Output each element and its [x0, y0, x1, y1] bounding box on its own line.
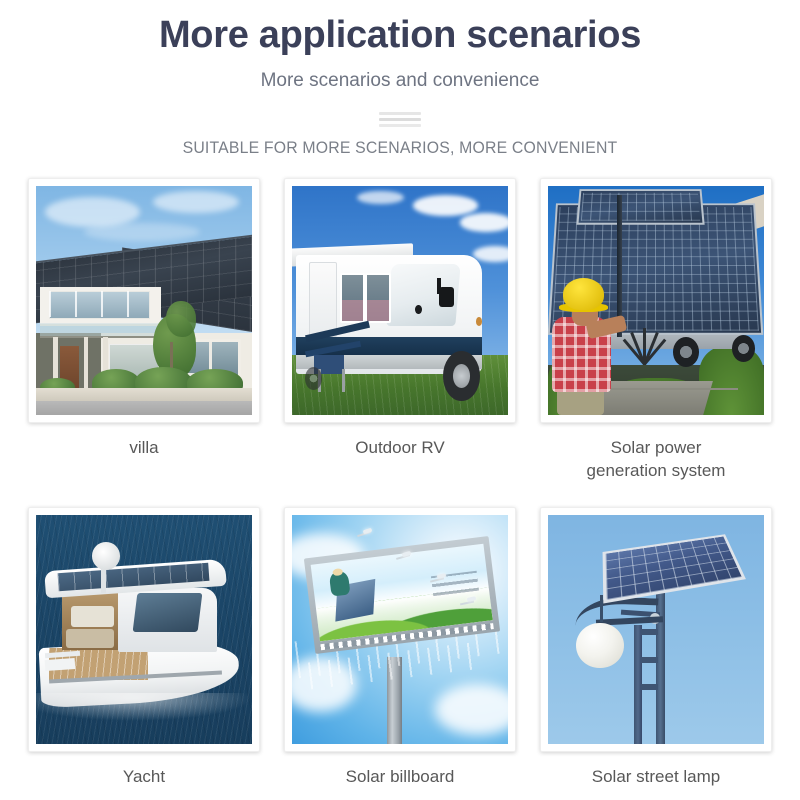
outdoor-rv-photo: [292, 186, 508, 415]
divider-line-2: [379, 118, 421, 121]
section-divider: [379, 112, 421, 127]
scenario-card-yacht[interactable]: [28, 507, 260, 752]
scenario-cell-solar-street-lamp[interactable]: Solar street lamp: [532, 507, 780, 789]
application-scenarios-page: More application scenarios More scenario…: [0, 0, 800, 800]
scenario-cell-villa[interactable]: villa: [20, 178, 268, 483]
divider-line-1: [379, 112, 421, 115]
page-title: More application scenarios: [0, 14, 800, 58]
scenario-caption: villa: [129, 437, 158, 460]
panel-mount-frame: [613, 328, 673, 365]
page-subtitle: More scenarios and convenience: [0, 70, 800, 93]
yacht-photo: [36, 515, 252, 744]
scenario-card-solar-billboard[interactable]: [284, 507, 516, 752]
scenario-cell-solar-power-generation-system[interactable]: Solar power generation system: [532, 178, 780, 483]
hard-hat: [563, 278, 604, 310]
solar-street-lamp-photo: [548, 515, 764, 744]
villa-rooftop-solar-photo: [36, 186, 252, 415]
scenario-grid: villa: [0, 178, 800, 789]
scenario-cell-yacht[interactable]: Yacht: [20, 507, 268, 789]
lamp-globe: [576, 623, 624, 669]
solar-billboard-illustration: [292, 515, 508, 744]
scenario-card-solar-power-generation-system[interactable]: [540, 178, 772, 423]
scenario-caption: Outdoor RV: [355, 437, 444, 460]
scenario-cell-outdoor-rv[interactable]: Outdoor RV: [276, 178, 524, 483]
scenario-caption: Solar power generation system: [587, 437, 726, 483]
scenario-caption: Yacht: [123, 766, 165, 789]
scenario-card-outdoor-rv[interactable]: [284, 178, 516, 423]
scenario-cell-solar-billboard[interactable]: Solar billboard: [276, 507, 524, 789]
scenario-card-solar-street-lamp[interactable]: [540, 507, 772, 752]
radar-dome: [92, 542, 120, 569]
scenario-caption: Solar street lamp: [592, 766, 721, 789]
scenario-caption: Solar billboard: [346, 766, 455, 789]
scenario-card-villa[interactable]: [28, 178, 260, 423]
page-header: More application scenarios More scenario…: [0, 0, 800, 159]
divider-line-3: [379, 124, 421, 127]
page-kicker: SUITABLE FOR MORE SCENARIOS, MORE CONVEN…: [28, 138, 772, 158]
solar-power-generation-system-photo: [548, 186, 764, 415]
